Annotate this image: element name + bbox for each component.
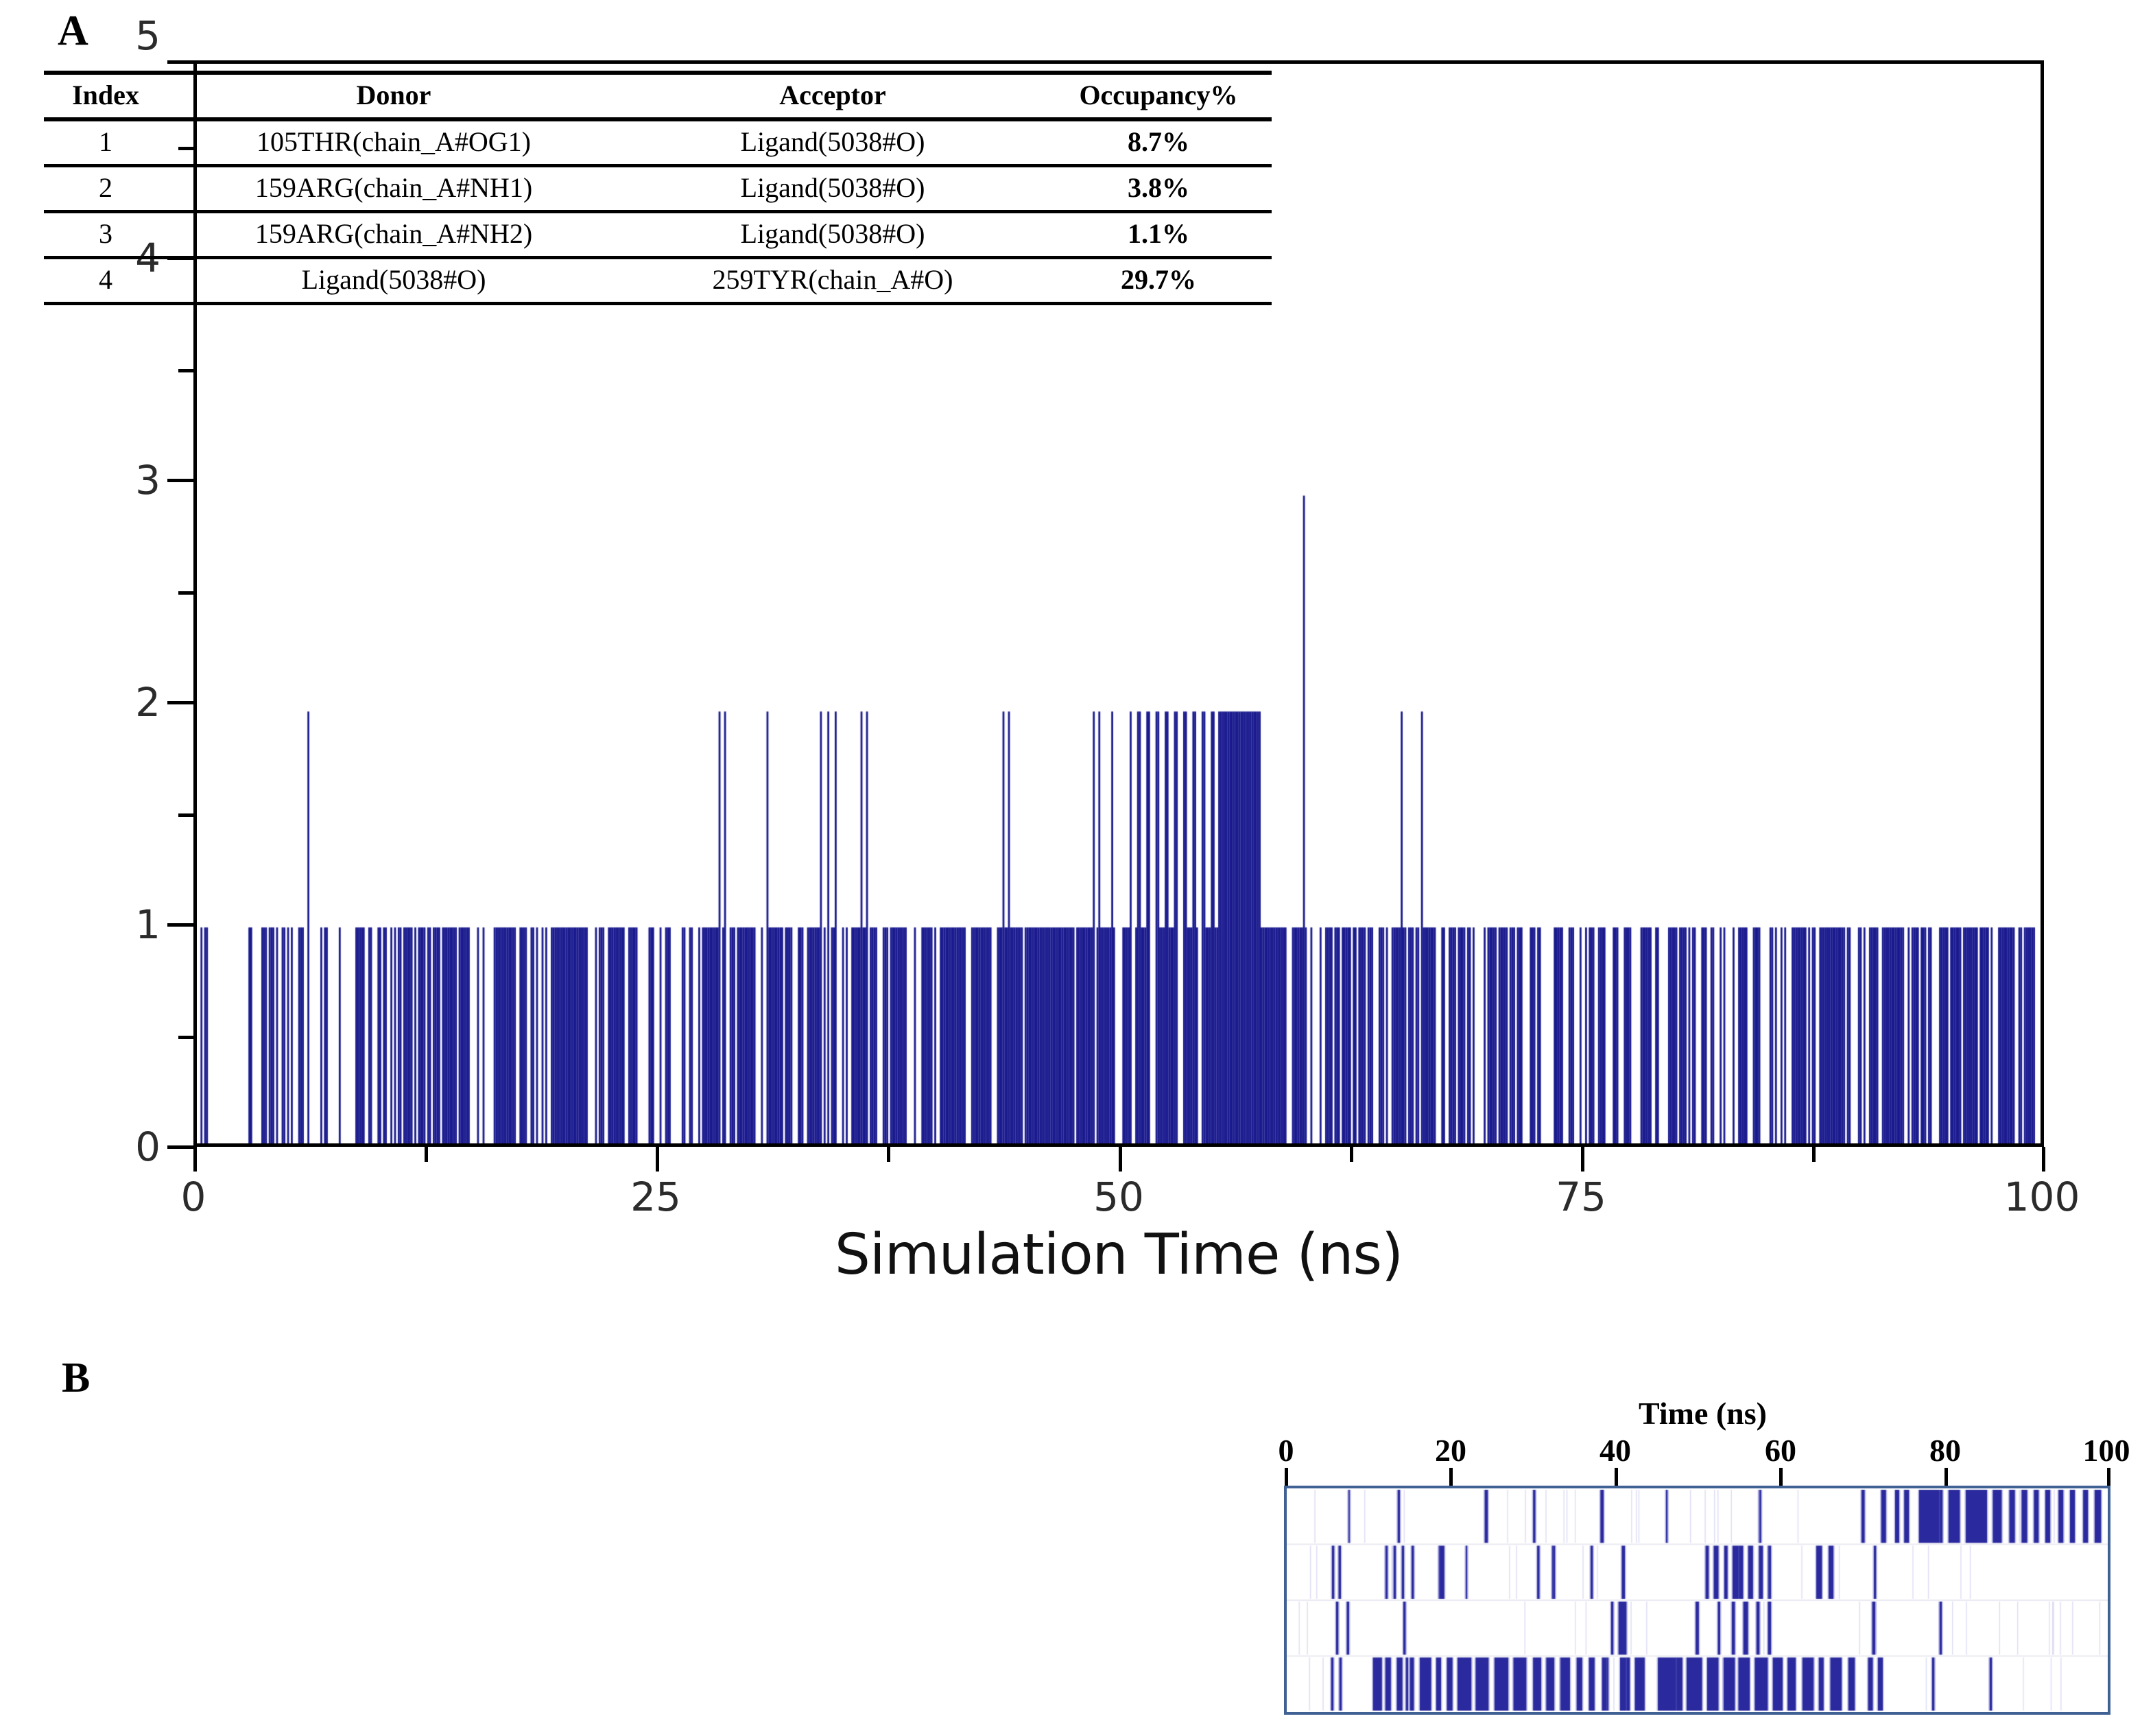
cell-acceptor: Ligand(5038#O): [620, 212, 1045, 258]
timeline-tick-label-0: 0: [1238, 1432, 1334, 1469]
x-tick-label-0: 0: [118, 1177, 269, 1217]
table-row: 4 Ligand(5038#O) 259TYR(chain_A#O) 29.7%: [44, 258, 1272, 304]
timeline-tick-label-40: 40: [1567, 1432, 1663, 1469]
timeline-title: Time (ns): [1279, 1395, 2126, 1431]
cell-acceptor: Ligand(5038#O): [620, 119, 1045, 166]
y-tick-label-0: 0: [44, 1127, 160, 1167]
panel-b-label: B: [62, 1357, 90, 1399]
x-tick-label-50: 50: [1043, 1177, 1194, 1217]
column-header-occupancy: Occupancy%: [1045, 73, 1272, 119]
column-header-index: Index: [44, 73, 167, 119]
timeline-tick-40: [1615, 1468, 1618, 1486]
cell-index: 4: [44, 258, 167, 304]
x-tick-50: [1119, 1147, 1122, 1172]
timeline-tick-80: [1944, 1468, 1948, 1486]
cell-acceptor: 259TYR(chain_A#O): [620, 258, 1045, 304]
cell-donor: 159ARG(chain_A#NH1): [167, 166, 620, 212]
cell-index: 3: [44, 212, 167, 258]
hbond-timeline-canvas: [1287, 1488, 2108, 1712]
cell-index: 1: [44, 119, 167, 166]
hbond-timeline-panel: [1284, 1486, 2110, 1715]
y-tick-0: [167, 1145, 193, 1149]
x-tick-0: [193, 1147, 197, 1172]
timeline-tick-60: [1779, 1468, 1783, 1486]
cell-donor: Ligand(5038#O): [167, 258, 620, 304]
timeline-tick-100: [2107, 1468, 2110, 1486]
cell-acceptor: Ligand(5038#O): [620, 166, 1045, 212]
timeline-tick-0: [1285, 1468, 1288, 1486]
y-tick-label-3: 3: [44, 460, 160, 500]
x-tick-minor-375: [887, 1147, 890, 1162]
x-tick-100: [2042, 1147, 2045, 1172]
table-header-row: Index Donor Acceptor Occupancy%: [44, 73, 1272, 119]
cell-occupancy: 3.8%: [1045, 166, 1272, 212]
x-tick-label-100: 100: [1966, 1177, 2117, 1217]
timeline-tick-label-100: 100: [2058, 1432, 2129, 1469]
y-tick-minor-35: [178, 369, 193, 372]
x-tick-minor-125: [425, 1147, 428, 1162]
x-tick-minor-625: [1350, 1147, 1353, 1162]
x-tick-label-75: 75: [1506, 1177, 1656, 1217]
y-tick-1: [167, 923, 193, 927]
timeline-tick-label-60: 60: [1733, 1432, 1829, 1469]
cell-index: 2: [44, 166, 167, 212]
timeline-tick-label-80: 80: [1897, 1432, 1993, 1469]
cell-donor: 105THR(chain_A#OG1): [167, 119, 620, 166]
table-row: 3 159ARG(chain_A#NH2) Ligand(5038#O) 1.1…: [44, 212, 1272, 258]
cell-donor: 159ARG(chain_A#NH2): [167, 212, 620, 258]
y-tick-label-1: 1: [44, 905, 160, 944]
cell-occupancy: 8.7%: [1045, 119, 1272, 166]
y-tick-5: [167, 60, 193, 64]
column-header-donor: Donor: [167, 73, 620, 119]
x-tick-25: [656, 1147, 659, 1172]
y-tick-label-5: 5: [44, 16, 160, 56]
timeline-tick-20: [1449, 1468, 1453, 1486]
y-tick-minor-25: [178, 591, 193, 595]
x-axis-title: Simulation Time (ns): [193, 1222, 2044, 1287]
y-tick-minor-15: [178, 813, 193, 817]
x-tick-label-25: 25: [580, 1177, 731, 1217]
table-row: 2 159ARG(chain_A#NH1) Ligand(5038#O) 3.8…: [44, 166, 1272, 212]
table-row: 1 105THR(chain_A#OG1) Ligand(5038#O) 8.7…: [44, 119, 1272, 166]
column-header-acceptor: Acceptor: [620, 73, 1045, 119]
timeline-tick-label-20: 20: [1403, 1432, 1499, 1469]
y-tick-3: [167, 479, 193, 482]
y-tick-2: [167, 701, 193, 704]
x-tick-75: [1581, 1147, 1584, 1172]
y-tick-label-2: 2: [44, 682, 160, 722]
hbond-occupancy-table: Index Donor Acceptor Occupancy% 1 105THR…: [44, 71, 1272, 305]
y-tick-minor-05: [178, 1036, 193, 1039]
x-tick-minor-875: [1812, 1147, 1816, 1162]
cell-occupancy: 1.1%: [1045, 212, 1272, 258]
cell-occupancy: 29.7%: [1045, 258, 1272, 304]
